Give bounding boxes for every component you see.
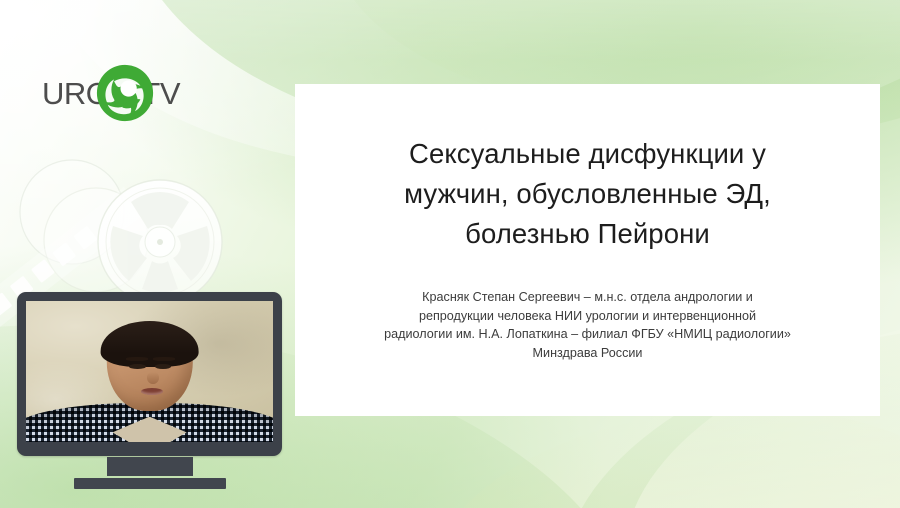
speaker-eyebrow-left xyxy=(126,357,148,361)
urotv-emblem-icon xyxy=(96,64,154,122)
speaker-video-monitor[interactable] xyxy=(17,292,282,489)
monitor-screen[interactable] xyxy=(26,301,273,442)
monitor-stand-base xyxy=(74,478,226,489)
slide-content-card: Сексуальные дисфункции у мужчин, обуслов… xyxy=(295,84,880,416)
monitor-stand-neck xyxy=(107,457,193,476)
speaker-eyebrow-right xyxy=(153,357,175,361)
presentation-slide: URO TV Сексуальные дисфункции у мужчин, … xyxy=(0,0,900,508)
slide-presenter-affiliation: Красняк Степан Сергеевич – м.н.с. отдела… xyxy=(295,254,880,362)
urotv-logo[interactable]: URO TV xyxy=(42,62,180,124)
speaker-eye-right xyxy=(155,364,171,369)
monitor-bezel xyxy=(17,292,282,456)
speaker-eye-left xyxy=(129,364,145,369)
slide-title: Сексуальные дисфункции у мужчин, обуслов… xyxy=(295,84,880,254)
webcam-speaker-portrait xyxy=(26,301,273,442)
